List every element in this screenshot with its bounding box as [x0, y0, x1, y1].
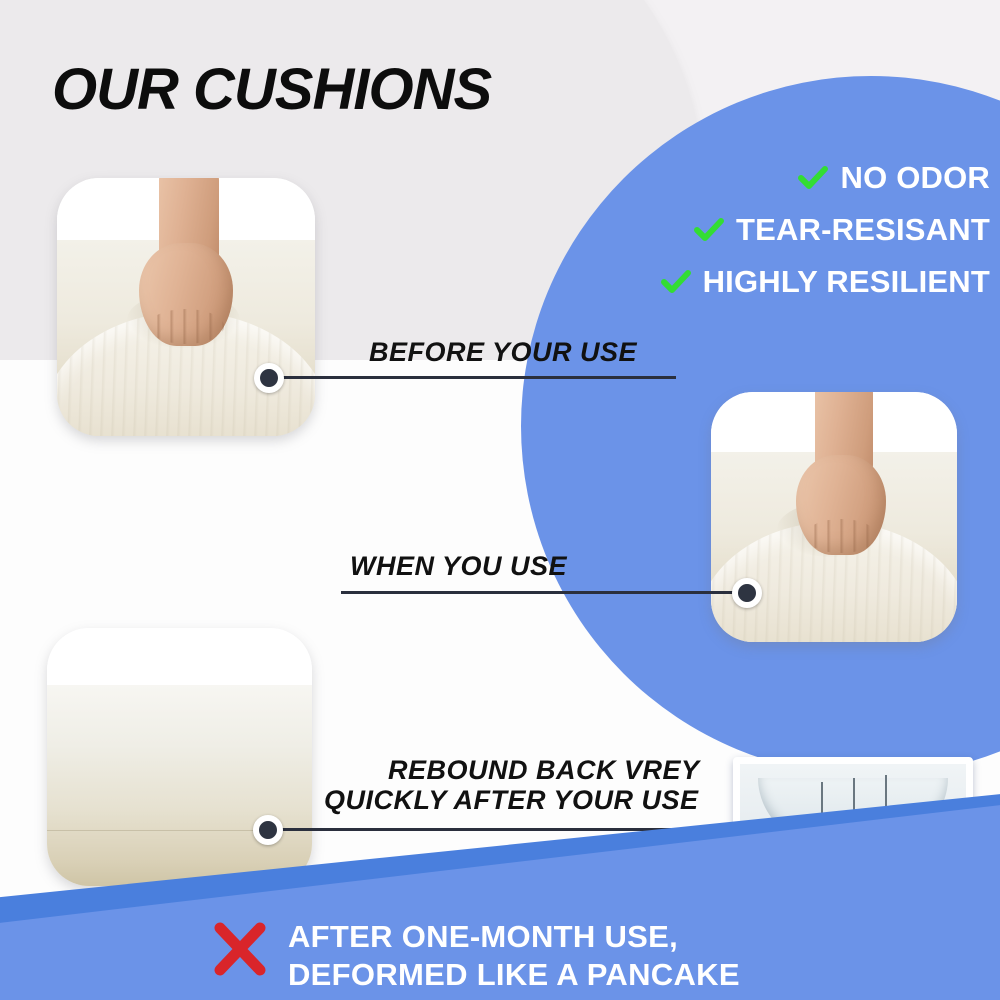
photo-foam-flat-body	[47, 685, 312, 886]
callout-label-before-your-use: BEFORE YOUR USE	[369, 338, 637, 367]
feature-label: TEAR-RESISANT	[736, 212, 990, 248]
callout-label-rebound-line1: REBOUND BACK VREY	[388, 756, 700, 785]
callout-dot-before-your-use	[254, 363, 284, 393]
callout-label-when-you-use: WHEN YOU USE	[350, 552, 567, 581]
fist	[139, 243, 233, 346]
callout-label-rebound-line2: QUICKLY AFTER YOUR USE	[324, 786, 699, 815]
callout-dot-rebound	[253, 815, 283, 845]
hand-graphic	[795, 392, 888, 562]
feature-label: HIGHLY RESILIENT	[703, 264, 990, 300]
callout-line-when-you-use	[341, 591, 745, 594]
photo-cushion-rebounded-flat	[47, 628, 312, 886]
feature-list: NO ODOR TEAR-RESISANT HIGHLY RESILIENT	[600, 160, 990, 316]
knuckles	[805, 519, 877, 553]
feature-label: NO ODOR	[840, 160, 990, 196]
callout-dot-when-you-use	[732, 578, 762, 608]
knuckles	[148, 309, 223, 344]
photo-hand-pressing-cushion-before	[57, 178, 315, 436]
fist	[796, 455, 886, 555]
hand-graphic	[137, 178, 235, 353]
feature-item-no-odor: NO ODOR	[600, 160, 990, 196]
check-icon	[798, 165, 828, 191]
feature-item-highly-resilient: HIGHLY RESILIENT	[600, 264, 990, 300]
check-icon	[661, 269, 691, 295]
bottom-banner-line2: DEFORMED LIKE A PANCAKE	[288, 956, 740, 994]
page-title: OUR CUSHIONS	[52, 56, 491, 123]
callout-line-before-your-use	[272, 376, 676, 379]
callout-line-rebound	[271, 828, 676, 831]
feature-item-tear-resistant: TEAR-RESISANT	[600, 212, 990, 248]
bottom-banner-line1: AFTER ONE-MONTH USE,	[288, 918, 740, 956]
infographic-canvas: OUR CUSHIONS NO ODOR TEAR-RESISANT	[0, 0, 1000, 1000]
x-mark-icon	[213, 922, 267, 976]
bottom-banner-text: AFTER ONE-MONTH USE, DEFORMED LIKE A PAN…	[288, 918, 740, 994]
check-icon	[694, 217, 724, 243]
